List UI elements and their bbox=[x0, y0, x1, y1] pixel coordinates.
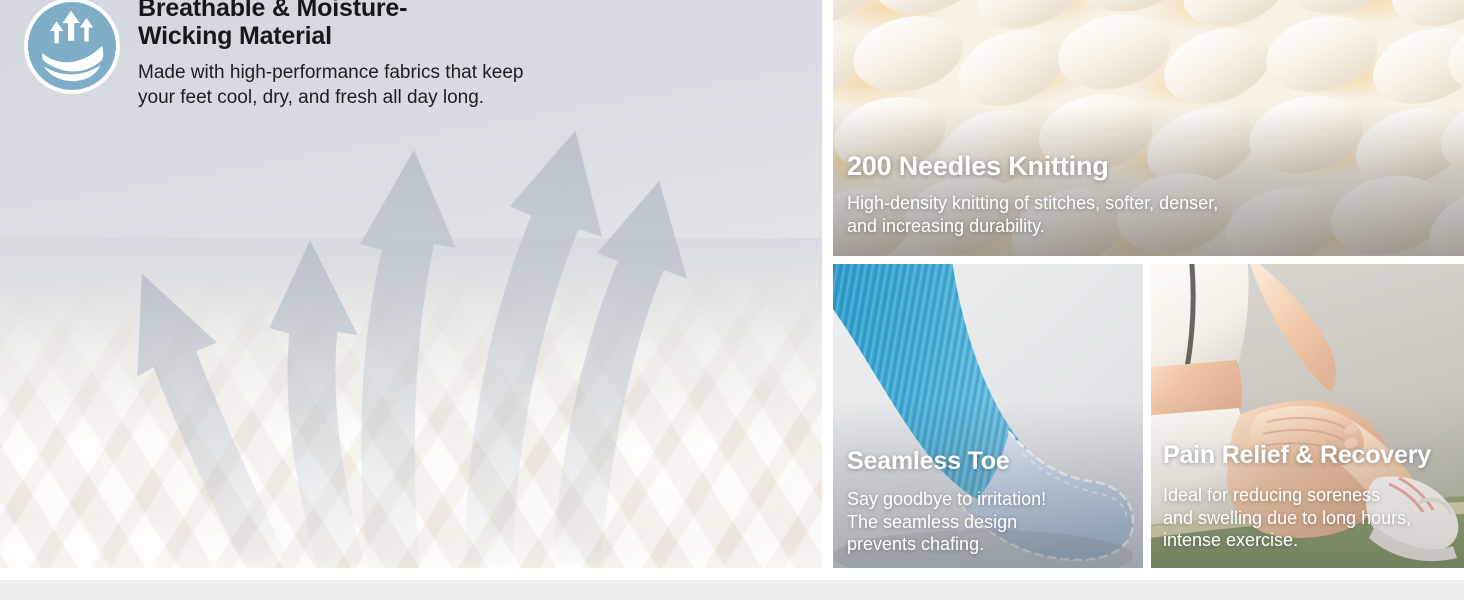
panel-caption: Seamless Toe Say goodbye to irritation! … bbox=[847, 448, 1131, 556]
pain-relief-recovery-panel: Pain Relief & Recovery Ideal for reducin… bbox=[1151, 264, 1464, 570]
200-needles-knitting-panel: 200 Needles Knitting High-density knitti… bbox=[833, 0, 1464, 256]
panel-header: Breathable & Moisture- Wicking Material … bbox=[24, 0, 523, 111]
panel-title: Pain Relief & Recovery bbox=[1163, 442, 1452, 470]
panel-body-text: Made with high-performance fabrics that … bbox=[138, 60, 523, 111]
panel-caption: Pain Relief & Recovery Ideal for reducin… bbox=[1163, 442, 1452, 552]
panel-header-text: Breathable & Moisture- Wicking Material … bbox=[138, 0, 523, 111]
panel-title: 200 Needles Knitting bbox=[847, 152, 1444, 182]
page-title: Breathable & Moisture- Wicking Material bbox=[138, 0, 523, 50]
bottom-gap bbox=[0, 568, 1464, 580]
breathable-airflow-icon bbox=[24, 0, 120, 94]
panel-gap bbox=[1143, 264, 1151, 570]
product-feature-collage: Breathable & Moisture- Wicking Material … bbox=[0, 0, 1464, 600]
seamless-toe-panel: Seamless Toe Say goodbye to irritation! … bbox=[833, 264, 1143, 570]
footer-band bbox=[0, 580, 1464, 600]
panel-caption: 200 Needles Knitting High-density knitti… bbox=[847, 152, 1444, 238]
panel-title: Seamless Toe bbox=[847, 448, 1131, 476]
column-gap bbox=[822, 0, 833, 580]
panel-body-text: Say goodbye to irritation! The seamless … bbox=[847, 488, 1131, 556]
panel-body-text: High-density knitting of stitches, softe… bbox=[847, 192, 1444, 238]
breathable-moisture-wicking-panel: Breathable & Moisture- Wicking Material … bbox=[0, 0, 822, 568]
row-gap bbox=[833, 256, 1464, 264]
panel-body-text: Ideal for reducing soreness and swelling… bbox=[1163, 484, 1452, 552]
